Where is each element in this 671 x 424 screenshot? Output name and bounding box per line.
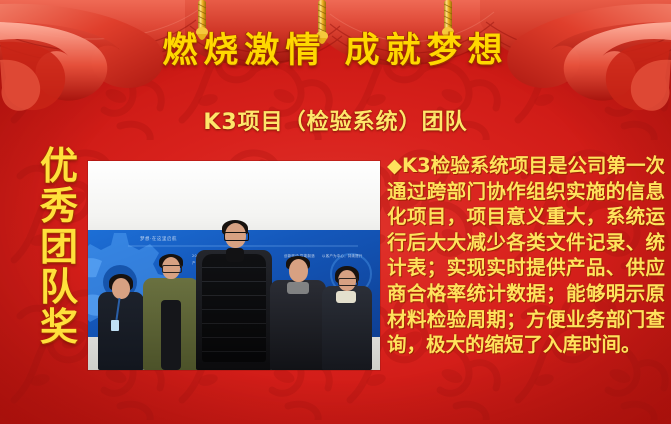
poster-root: 燃烧激情 成就梦想 K3项目（检验系统）团队 优秀团队奖 梦想·在这里启航 20… xyxy=(0,0,671,424)
person-4 xyxy=(270,256,326,370)
wall-body-text-4: 以客户为中心，持续提升 xyxy=(322,253,363,258)
award-vertical-label: 优秀团队奖 xyxy=(36,146,82,347)
wall-headline-text: 梦想·在这里启航 xyxy=(140,236,177,242)
person-3 xyxy=(196,220,272,370)
project-description-text: ◆K3检验系统项目是公司第一次通过跨部门协作组织实施的信息化项目，项目意义重大，… xyxy=(387,153,665,358)
team-photo: 梦想·在这里启航 2006年，与全球领先的 产品质量体系，以国际 创新驱动 智能… xyxy=(88,161,380,370)
person-1 xyxy=(98,274,144,370)
poster-headline: 燃烧激情 成就梦想 xyxy=(0,33,671,70)
person-2 xyxy=(143,254,199,370)
person-5 xyxy=(322,266,372,370)
poster-subtitle: K3项目（检验系统）团队 xyxy=(0,104,671,136)
